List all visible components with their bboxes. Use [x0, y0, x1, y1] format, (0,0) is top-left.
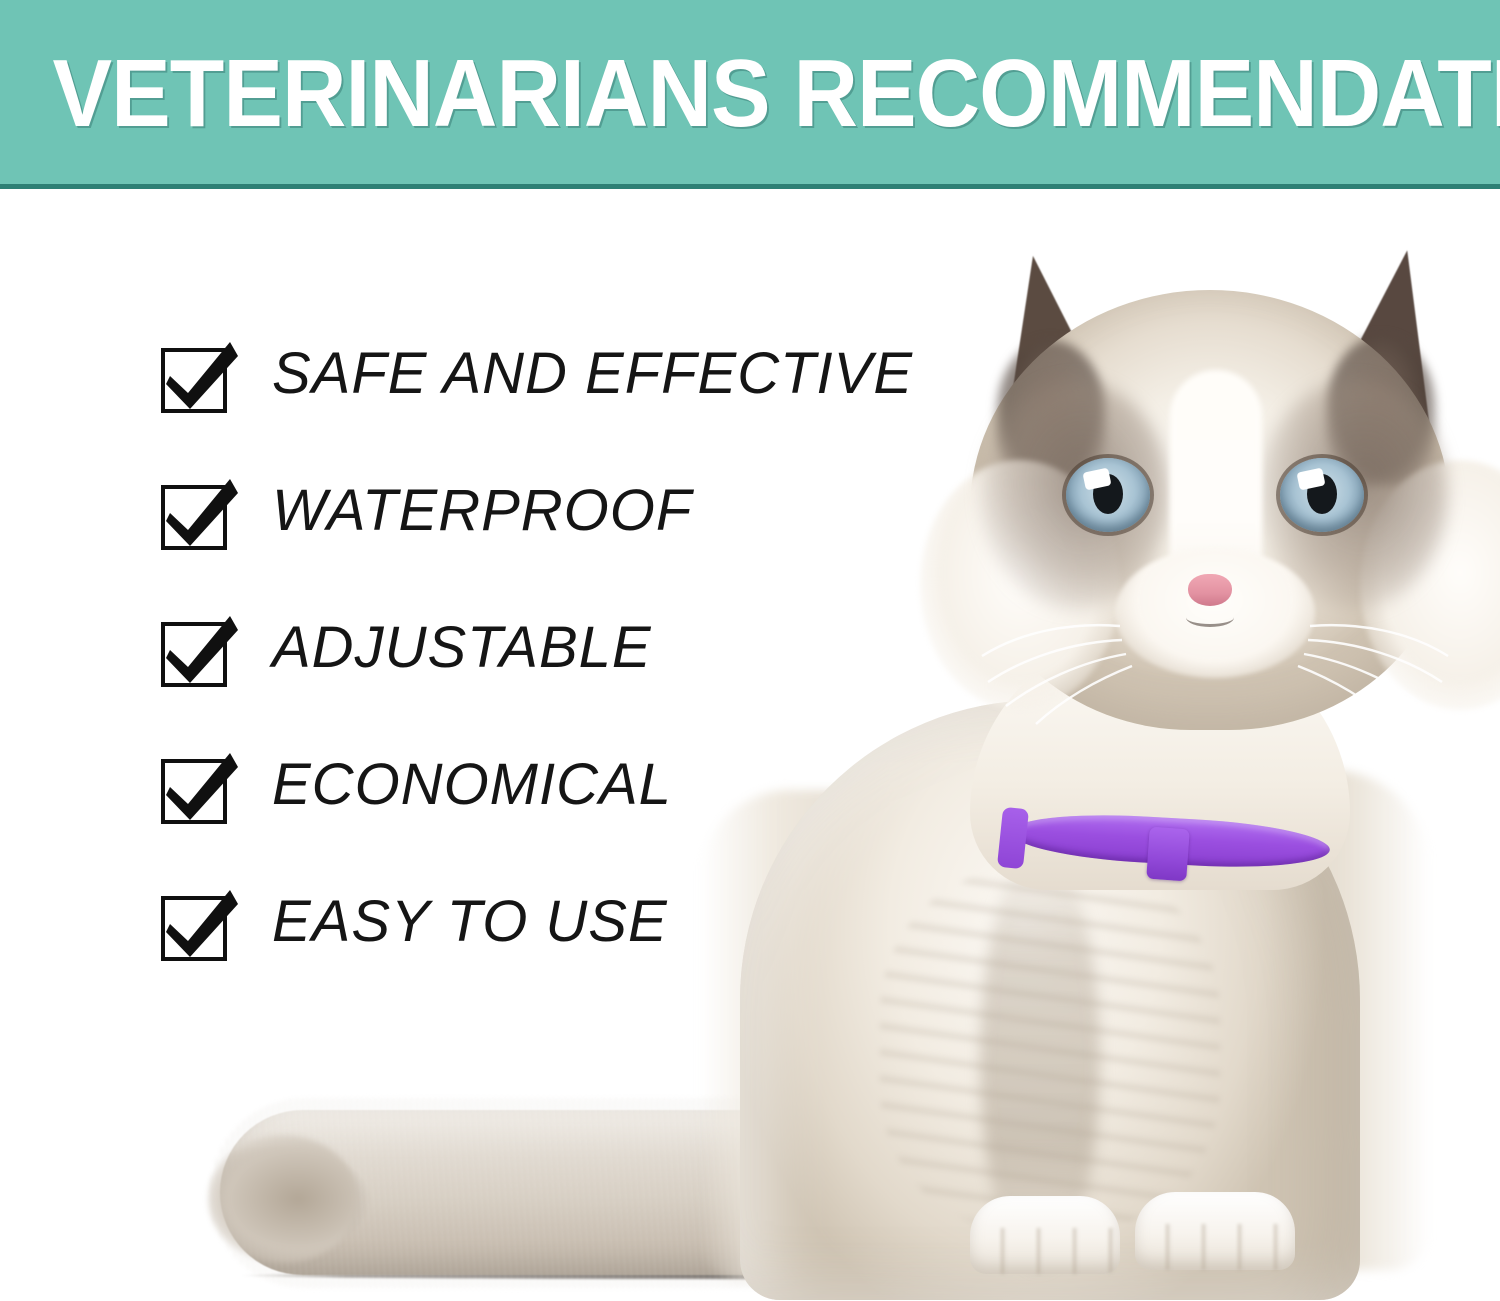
cat-whiskers	[980, 570, 1450, 730]
cat-eye-right	[1280, 458, 1364, 532]
cat-eye-left	[1066, 458, 1150, 532]
checkbox-checked-icon	[160, 614, 238, 688]
feature-item: SAFE AND EFFECTIVE	[160, 336, 920, 473]
feature-label: SAFE AND EFFECTIVE	[272, 336, 913, 412]
feature-label: ADJUSTABLE	[272, 610, 652, 686]
cat-paw-toes	[1135, 1224, 1295, 1270]
feature-item: ECONOMICAL	[160, 747, 920, 884]
checkbox-checked-icon	[160, 751, 238, 825]
feature-label: ECONOMICAL	[272, 747, 672, 823]
checkbox-checked-icon	[160, 477, 238, 551]
checkbox-checked-icon	[160, 340, 238, 414]
feature-label: EASY TO USE	[272, 884, 668, 960]
feature-item: EASY TO USE	[160, 884, 920, 1021]
cat-tail-tip	[208, 1135, 358, 1263]
feature-item: WATERPROOF	[160, 473, 920, 610]
page-title: VETERINARIANS RECOMMENDATION	[53, 44, 1448, 144]
checkbox-checked-icon	[160, 888, 238, 962]
feature-label: WATERPROOF	[272, 473, 692, 549]
cat-front-paw-right	[1135, 1192, 1295, 1270]
feature-item: ADJUSTABLE	[160, 610, 920, 747]
cat-paw-toes	[970, 1228, 1120, 1274]
cat-front-paw-left	[970, 1196, 1120, 1274]
header-divider-rule	[0, 184, 1500, 189]
product-infographic: VETERINARIANS RECOMMENDATION	[0, 0, 1500, 1301]
feature-checklist: SAFE AND EFFECTIVE WATERPROOF ADJUSTABLE	[160, 336, 920, 1021]
collar-adjustment-slider	[1146, 827, 1190, 882]
cat-chest-fur-texture	[880, 870, 1220, 1230]
